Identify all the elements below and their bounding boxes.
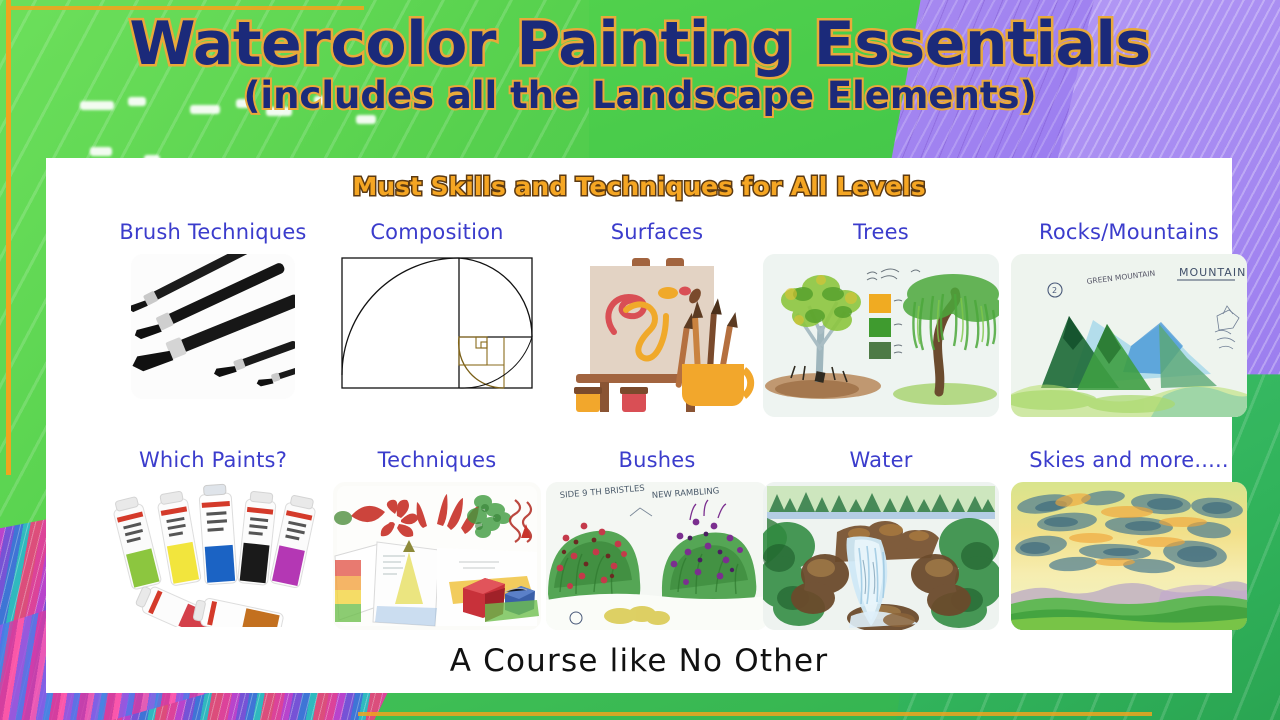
thumbnail-techniques[interactable] xyxy=(333,482,541,630)
thumbnail-paint-tubes[interactable] xyxy=(108,482,318,627)
watercolor-mountains-icon: MOUNTAINS GREEN MOUNTAIN 2 xyxy=(1011,254,1247,417)
watercolor-techniques-icon xyxy=(333,482,541,630)
thumbnail-surfaces-easel[interactable] xyxy=(554,254,761,412)
watercolor-sky-icon xyxy=(1011,482,1247,630)
fibonacci-spiral-icon xyxy=(338,254,536,392)
border-accent-bottom xyxy=(358,712,1152,716)
thumbnail-trees[interactable] xyxy=(763,254,999,417)
thumbnail-water[interactable] xyxy=(763,482,999,630)
watercolor-bushes-icon: SIDE 9 TH BRISTLES NEW RAMBLING FOLIAGE xyxy=(546,482,768,630)
category-trees[interactable]: Trees xyxy=(736,220,1026,417)
thumbnail-skies[interactable] xyxy=(1011,482,1247,630)
mountains-heading-text: MOUNTAINS xyxy=(1179,266,1247,279)
thumbnail-paint-brushes[interactable] xyxy=(131,254,295,399)
paint-brushes-icon xyxy=(131,254,295,399)
page-title: Watercolor Painting Essentials xyxy=(0,14,1280,75)
category-label: Rocks/Mountains xyxy=(984,220,1274,244)
category-water[interactable]: Water xyxy=(736,448,1026,630)
tagline: Must Skills and Techniques for All Level… xyxy=(46,172,1232,201)
easel-canvas-icon xyxy=(554,254,761,412)
content-card: Must Skills and Techniques for All Level… xyxy=(46,158,1232,693)
watercolor-trees-icon xyxy=(763,254,999,417)
category-label: Water xyxy=(736,448,1026,472)
category-label: Trees xyxy=(736,220,1026,244)
category-skies[interactable]: Skies and more..... xyxy=(984,448,1274,630)
category-rocks-mountains[interactable]: Rocks/Mountains MOUNTAINS GREEN MOUNTAIN… xyxy=(984,220,1274,417)
thumbnail-bushes[interactable]: SIDE 9 TH BRISTLES NEW RAMBLING FOLIAGE xyxy=(546,482,768,630)
watercolor-waterfall-icon xyxy=(763,482,999,630)
thumbnail-mountains[interactable]: MOUNTAINS GREEN MOUNTAIN 2 xyxy=(1011,254,1247,417)
category-label: Skies and more..... xyxy=(984,448,1274,472)
mountains-number-text: 2 xyxy=(1052,286,1057,295)
page-subtitle: (includes all the Landscape Elements) xyxy=(0,77,1280,116)
thumbnail-golden-ratio[interactable] xyxy=(338,254,536,392)
footnote: A Course like No Other xyxy=(46,643,1232,679)
poster-title-block: Watercolor Painting Essentials (includes… xyxy=(0,14,1280,116)
watercolor-paint-tubes-icon xyxy=(108,482,318,627)
